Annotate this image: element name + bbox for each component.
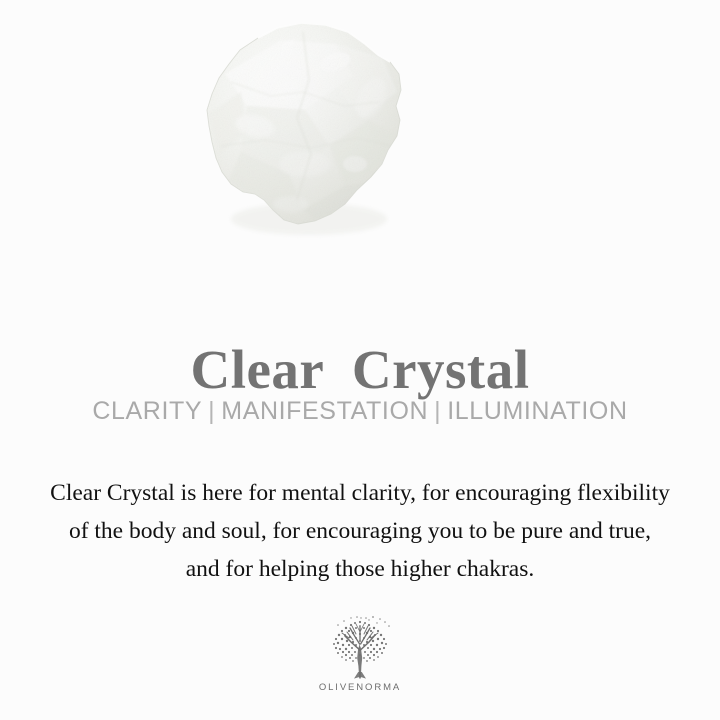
keyword-list: CLARITY|MANIFESTATION|ILLUMINATION <box>0 396 720 426</box>
keyword-separator: | <box>428 397 447 425</box>
keyword-clarity: CLARITY <box>92 397 202 425</box>
keyword-separator: | <box>202 397 221 425</box>
product-card: Clear Crystal CLARITY|MANIFESTATION|ILLU… <box>0 0 720 720</box>
tree-logo-icon <box>323 614 397 680</box>
brand-name: OLIVENORMA <box>319 682 401 693</box>
product-description: Clear Crystal is here for mental clarity… <box>50 474 670 588</box>
clear-crystal-image <box>185 14 445 264</box>
page-title: Clear Crystal <box>0 339 720 401</box>
keyword-illumination: ILLUMINATION <box>447 397 627 425</box>
product-image-stage <box>0 0 720 285</box>
brand-logo: OLIVENORMA <box>0 614 720 693</box>
keyword-manifestation: MANIFESTATION <box>221 397 428 425</box>
